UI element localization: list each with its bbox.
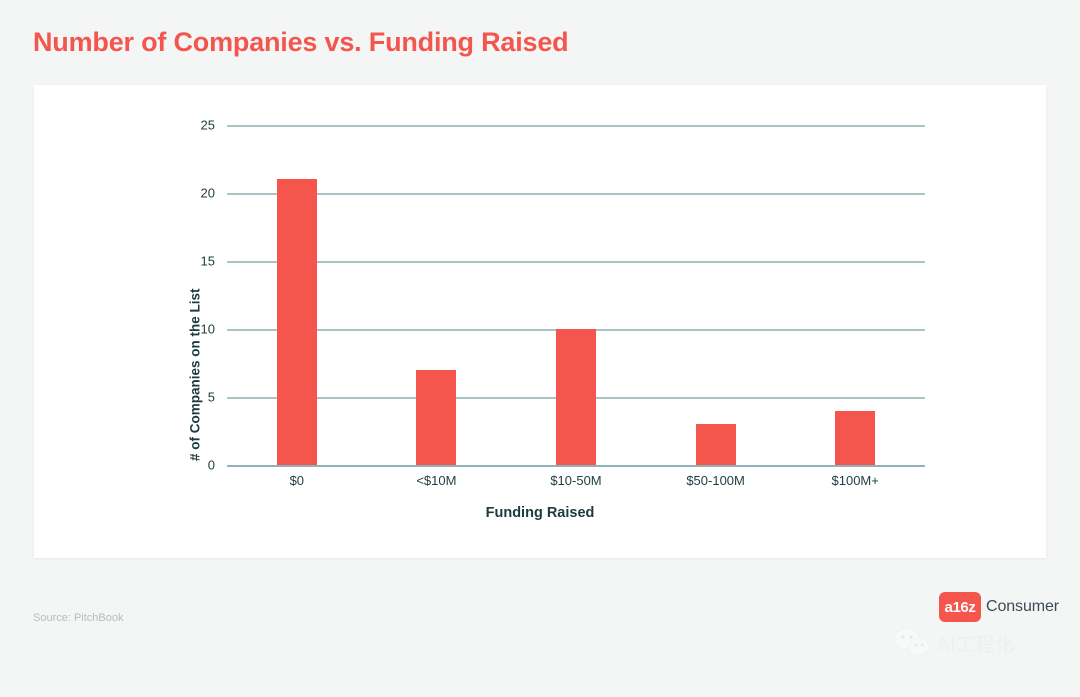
bar-group: $100M+ bbox=[785, 125, 925, 465]
bar[interactable] bbox=[277, 179, 317, 465]
source-note: Source: PitchBook bbox=[33, 612, 124, 624]
watermark: AI工程化 bbox=[893, 628, 1014, 658]
bar-group: $0 bbox=[227, 125, 367, 465]
plot-area: 0510152025$0<$10M$10-50M$50-100M$100M+ bbox=[227, 125, 925, 465]
bar[interactable] bbox=[835, 411, 875, 465]
chart-card: # of Companies on the List 0510152025$0<… bbox=[34, 85, 1046, 558]
x-axis-tick-label: $0 bbox=[290, 473, 304, 488]
bar-group: <$10M bbox=[367, 125, 507, 465]
wechat-icon bbox=[893, 628, 933, 658]
x-axis-tick-label: <$10M bbox=[416, 473, 456, 488]
y-axis-tick-label: 5 bbox=[208, 390, 215, 405]
logo-wordmark: Consumer bbox=[986, 598, 1059, 616]
y-axis-tick-label: 20 bbox=[201, 186, 215, 201]
x-axis-tick-label: $50-100M bbox=[686, 473, 745, 488]
a16z-logo-mark: a16z bbox=[939, 592, 981, 622]
watermark-text: AI工程化 bbox=[937, 630, 1014, 657]
bar-group: $50-100M bbox=[646, 125, 786, 465]
y-axis-tick-label: 15 bbox=[201, 254, 215, 269]
bar[interactable] bbox=[696, 424, 736, 465]
a16z-consumer-logo: a16z Consumer bbox=[939, 592, 1059, 622]
x-axis-tick-label: $10-50M bbox=[550, 473, 601, 488]
bar[interactable] bbox=[556, 329, 596, 465]
page-title: Number of Companies vs. Funding Raised bbox=[33, 27, 568, 58]
x-axis-tick-label: $100M+ bbox=[832, 473, 879, 488]
y-axis-title: # of Companies on the List bbox=[185, 275, 205, 475]
y-axis-tick-label: 10 bbox=[201, 322, 215, 337]
gridline bbox=[227, 465, 925, 467]
y-axis-tick-label: 25 bbox=[201, 118, 215, 133]
bar[interactable] bbox=[416, 370, 456, 465]
y-axis-tick-label: 0 bbox=[208, 458, 215, 473]
x-axis-title: Funding Raised bbox=[34, 505, 1046, 521]
bar-group: $10-50M bbox=[506, 125, 646, 465]
